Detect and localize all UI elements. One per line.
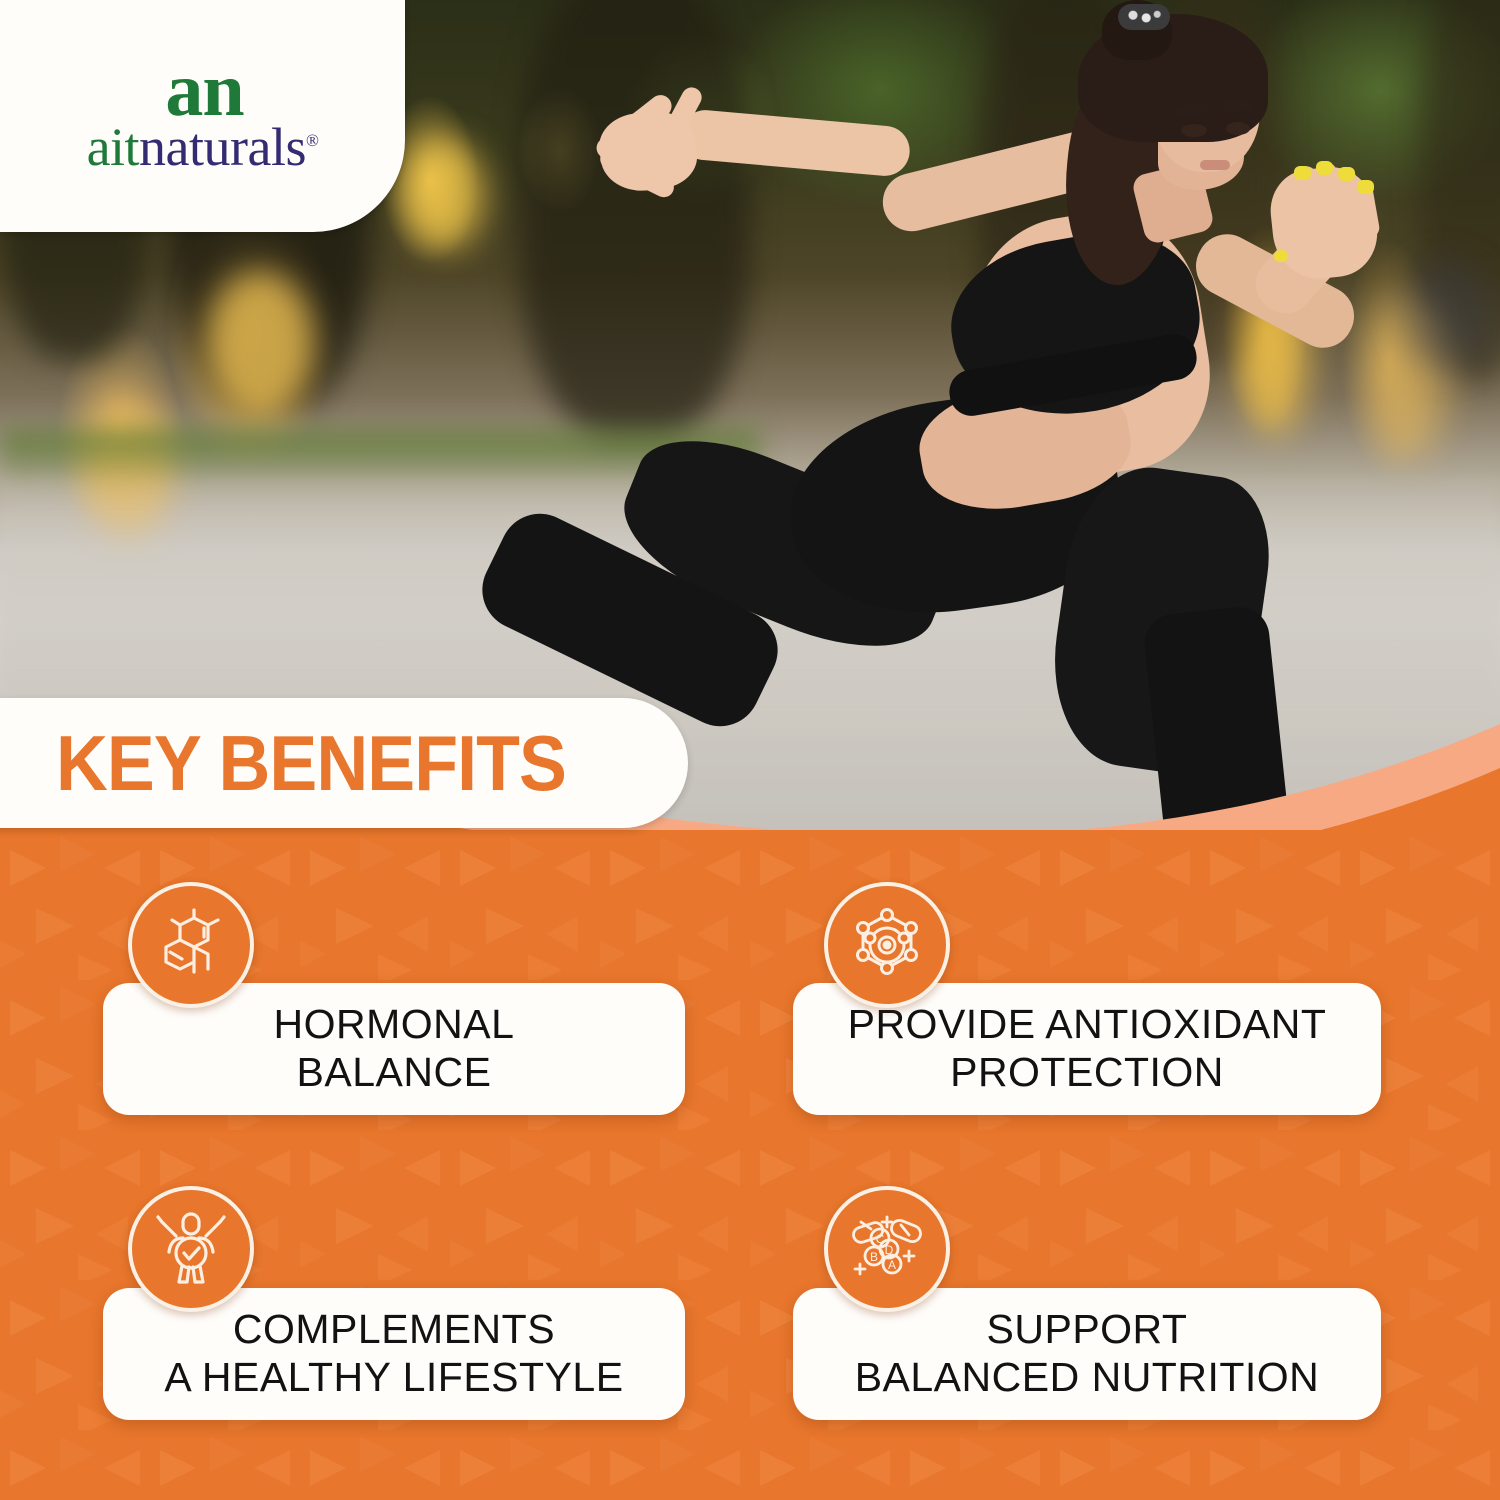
benefit-line-1: PROVIDE ANTIOXIDANT (848, 1001, 1327, 1047)
benefit-line-2: BALANCED NUTRITION (855, 1354, 1320, 1400)
benefit-card-label: SUPPORT BALANCED NUTRITION (839, 1306, 1336, 1402)
benefit-line-2: BALANCE (297, 1049, 492, 1095)
promo-graphic: an aitnaturals® KEY BENEFITS HORMONAL BA… (0, 0, 1500, 1500)
logo-mark: an (165, 58, 243, 123)
molecule-icon (128, 882, 254, 1008)
brand-logo[interactable]: an aitnaturals® (0, 0, 405, 232)
vitamins-icon: C D B A (824, 1186, 950, 1312)
benefit-line-1: COMPLEMENTS (233, 1306, 555, 1352)
wellness-person-icon (128, 1186, 254, 1312)
benefit-line-1: SUPPORT (987, 1306, 1188, 1352)
key-benefits-banner: KEY BENEFITS (0, 698, 688, 828)
registered-mark: ® (306, 131, 318, 150)
benefit-line-1: HORMONAL (274, 1001, 515, 1047)
benefit-line-2: A HEALTHY LIFESTYLE (164, 1354, 623, 1400)
page-title: KEY BENEFITS (56, 718, 566, 809)
logo-word-ait: ait (87, 117, 139, 177)
benefit-card-label: PROVIDE ANTIOXIDANT PROTECTION (832, 1001, 1343, 1097)
benefit-card-label: HORMONAL BALANCE (258, 1001, 531, 1097)
vitamin-label-b: B (870, 1250, 878, 1264)
benefit-card-label: COMPLEMENTS A HEALTHY LIFESTYLE (148, 1306, 639, 1402)
vitamin-label-d: D (885, 1243, 894, 1257)
antioxidant-icon (824, 882, 950, 1008)
benefit-line-2: PROTECTION (950, 1049, 1224, 1095)
vitamin-label-a: A (888, 1258, 896, 1272)
vitamin-label-c: C (876, 1232, 885, 1246)
